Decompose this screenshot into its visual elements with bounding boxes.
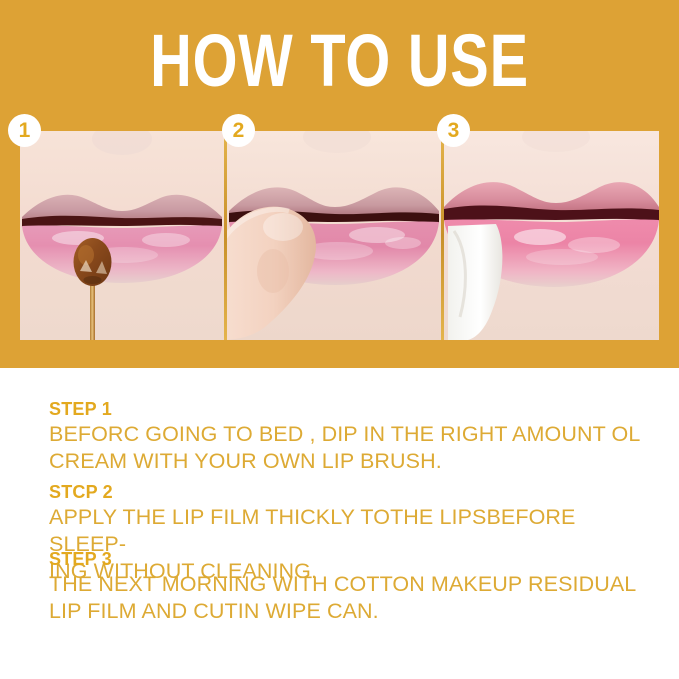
step-badge-2: 2 [222, 114, 255, 147]
lips-finger-illustration [227, 131, 441, 340]
step-photo-3 [444, 131, 659, 340]
step-3-heading: STEP 3 [49, 548, 649, 571]
step-block-3: STEP 3 THE NEXT MORNING WITH COTTON MAKE… [49, 548, 649, 625]
step-block-1: STEP 1 BEFORC GOING TO BED , DIP IN THE … [49, 398, 649, 475]
lips-cotton-pad-illustration [444, 131, 659, 340]
step-2-heading: STCP 2 [49, 481, 649, 504]
lips-brush-illustration [20, 131, 224, 340]
step-badge-3: 3 [437, 114, 470, 147]
step-3-body: THE NEXT MORNING WITH COTTON MAKEUP RESI… [49, 571, 649, 625]
photo-strip [20, 131, 659, 340]
step-badge-1: 1 [8, 114, 41, 147]
instructions-section: STEP 1 BEFORC GOING TO BED , DIP IN THE … [0, 368, 679, 679]
step-1-heading: STEP 1 [49, 398, 649, 421]
step-1-body: BEFORC GOING TO BED , DIP IN THE RIGHT A… [49, 421, 649, 475]
step-photo-1 [20, 131, 224, 340]
step-photo-2 [227, 131, 441, 340]
page-title: HOW TO USE [75, 24, 605, 98]
how-to-use-infographic: HOW TO USE [0, 0, 679, 679]
